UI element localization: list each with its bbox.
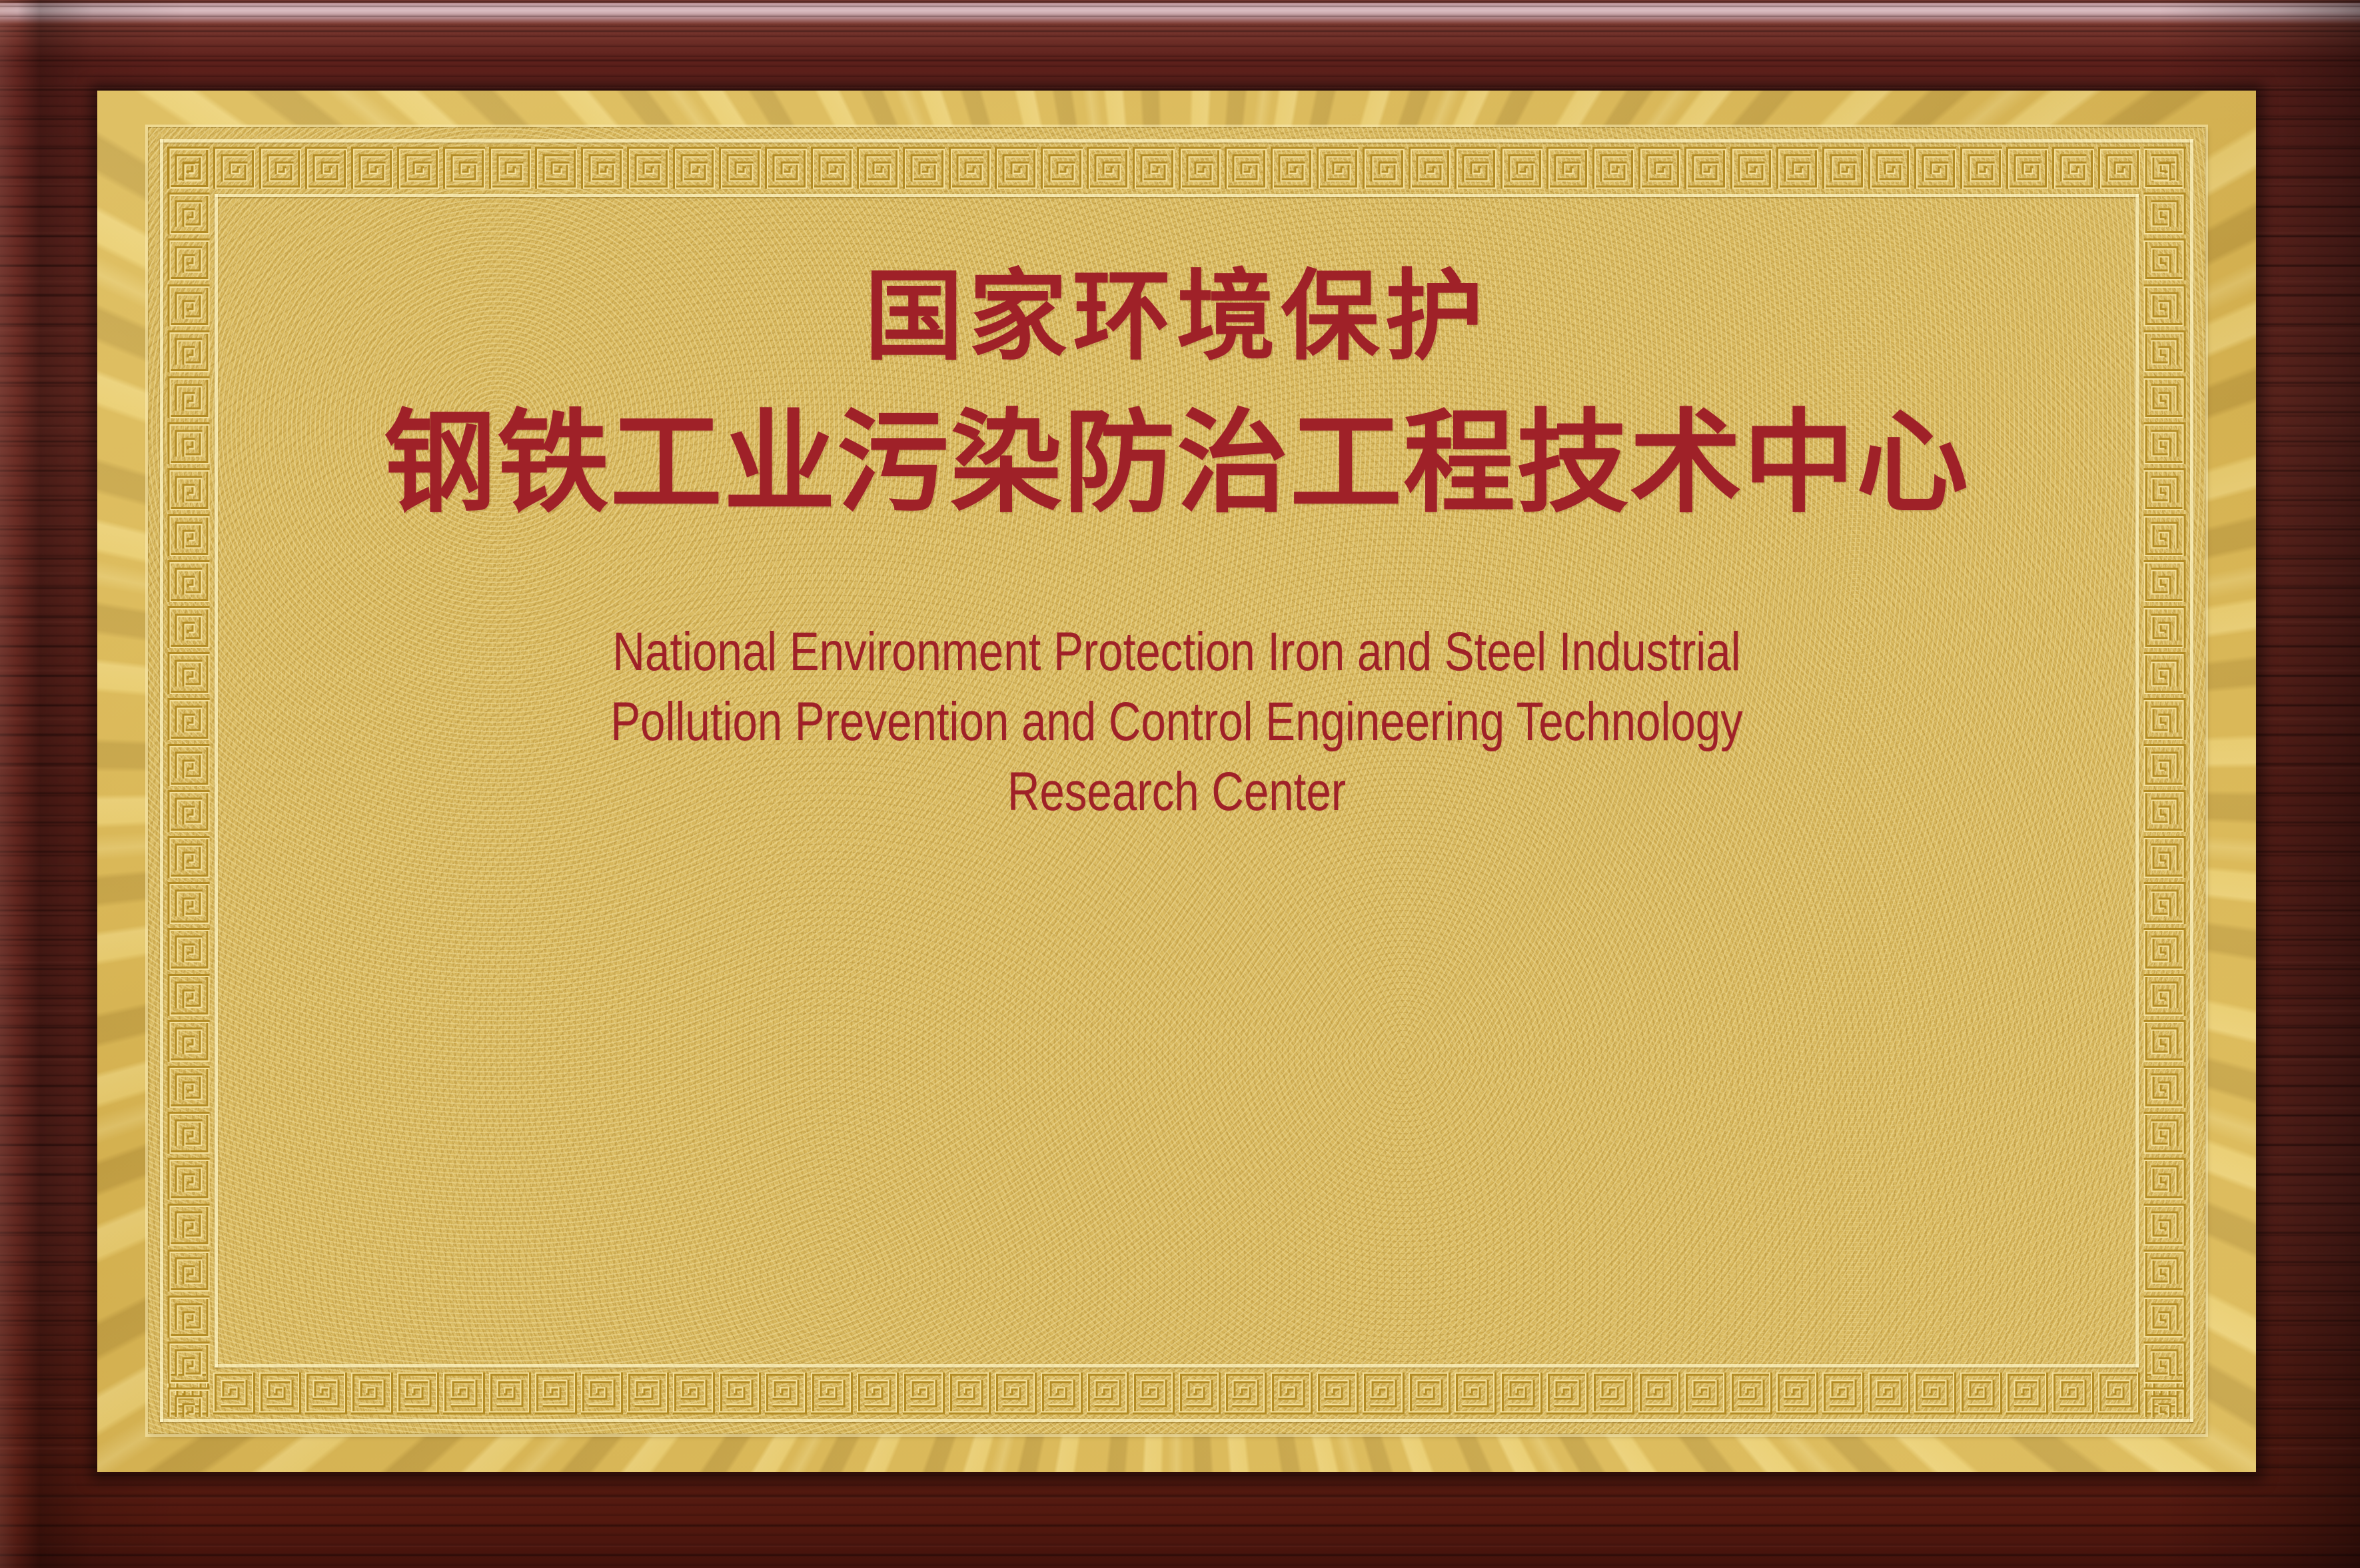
meander-border-bottom (165, 1370, 2188, 1417)
inner-panel: 国家环境保护 钢铁工业污染防治工程技术中心 National Environme… (148, 127, 2205, 1434)
border-rule-inner-left (215, 194, 218, 1368)
plaque-text-block: 国家环境保护 钢铁工业污染防治工程技术中心 National Environme… (227, 206, 2127, 1356)
title-english-block: National Environment Protection Iron and… (248, 617, 2105, 827)
border-rule-outer-bottom (160, 1419, 2193, 1422)
gold-plate: 国家环境保护 钢铁工业污染防治工程技术中心 National Environme… (97, 91, 2256, 1472)
meander-border-right (2141, 145, 2188, 1417)
border-rule-inner-bottom (215, 1364, 2139, 1368)
title-chinese-line-2: 钢铁工业污染防治工程技术中心 (384, 407, 1970, 519)
border-rule-inner-right (2135, 194, 2139, 1368)
title-english-line-2: Pollution Prevention and Control Enginee… (248, 687, 2105, 757)
title-english-line-3: Research Center (248, 757, 2105, 827)
meander-border-top (165, 145, 2188, 191)
border-rule-outer-right (2190, 139, 2193, 1422)
border-rule-outer-left (160, 139, 163, 1422)
meander-border-left (165, 145, 212, 1417)
border-rule-inner-top (215, 194, 2139, 197)
border-rule-outer-top (160, 139, 2193, 143)
title-chinese-line-1: 国家环境保护 (865, 267, 1489, 366)
title-english-line-1: National Environment Protection Iron and… (248, 617, 2105, 687)
award-plaque: 国家环境保护 钢铁工业污染防治工程技术中心 National Environme… (0, 0, 2360, 1568)
